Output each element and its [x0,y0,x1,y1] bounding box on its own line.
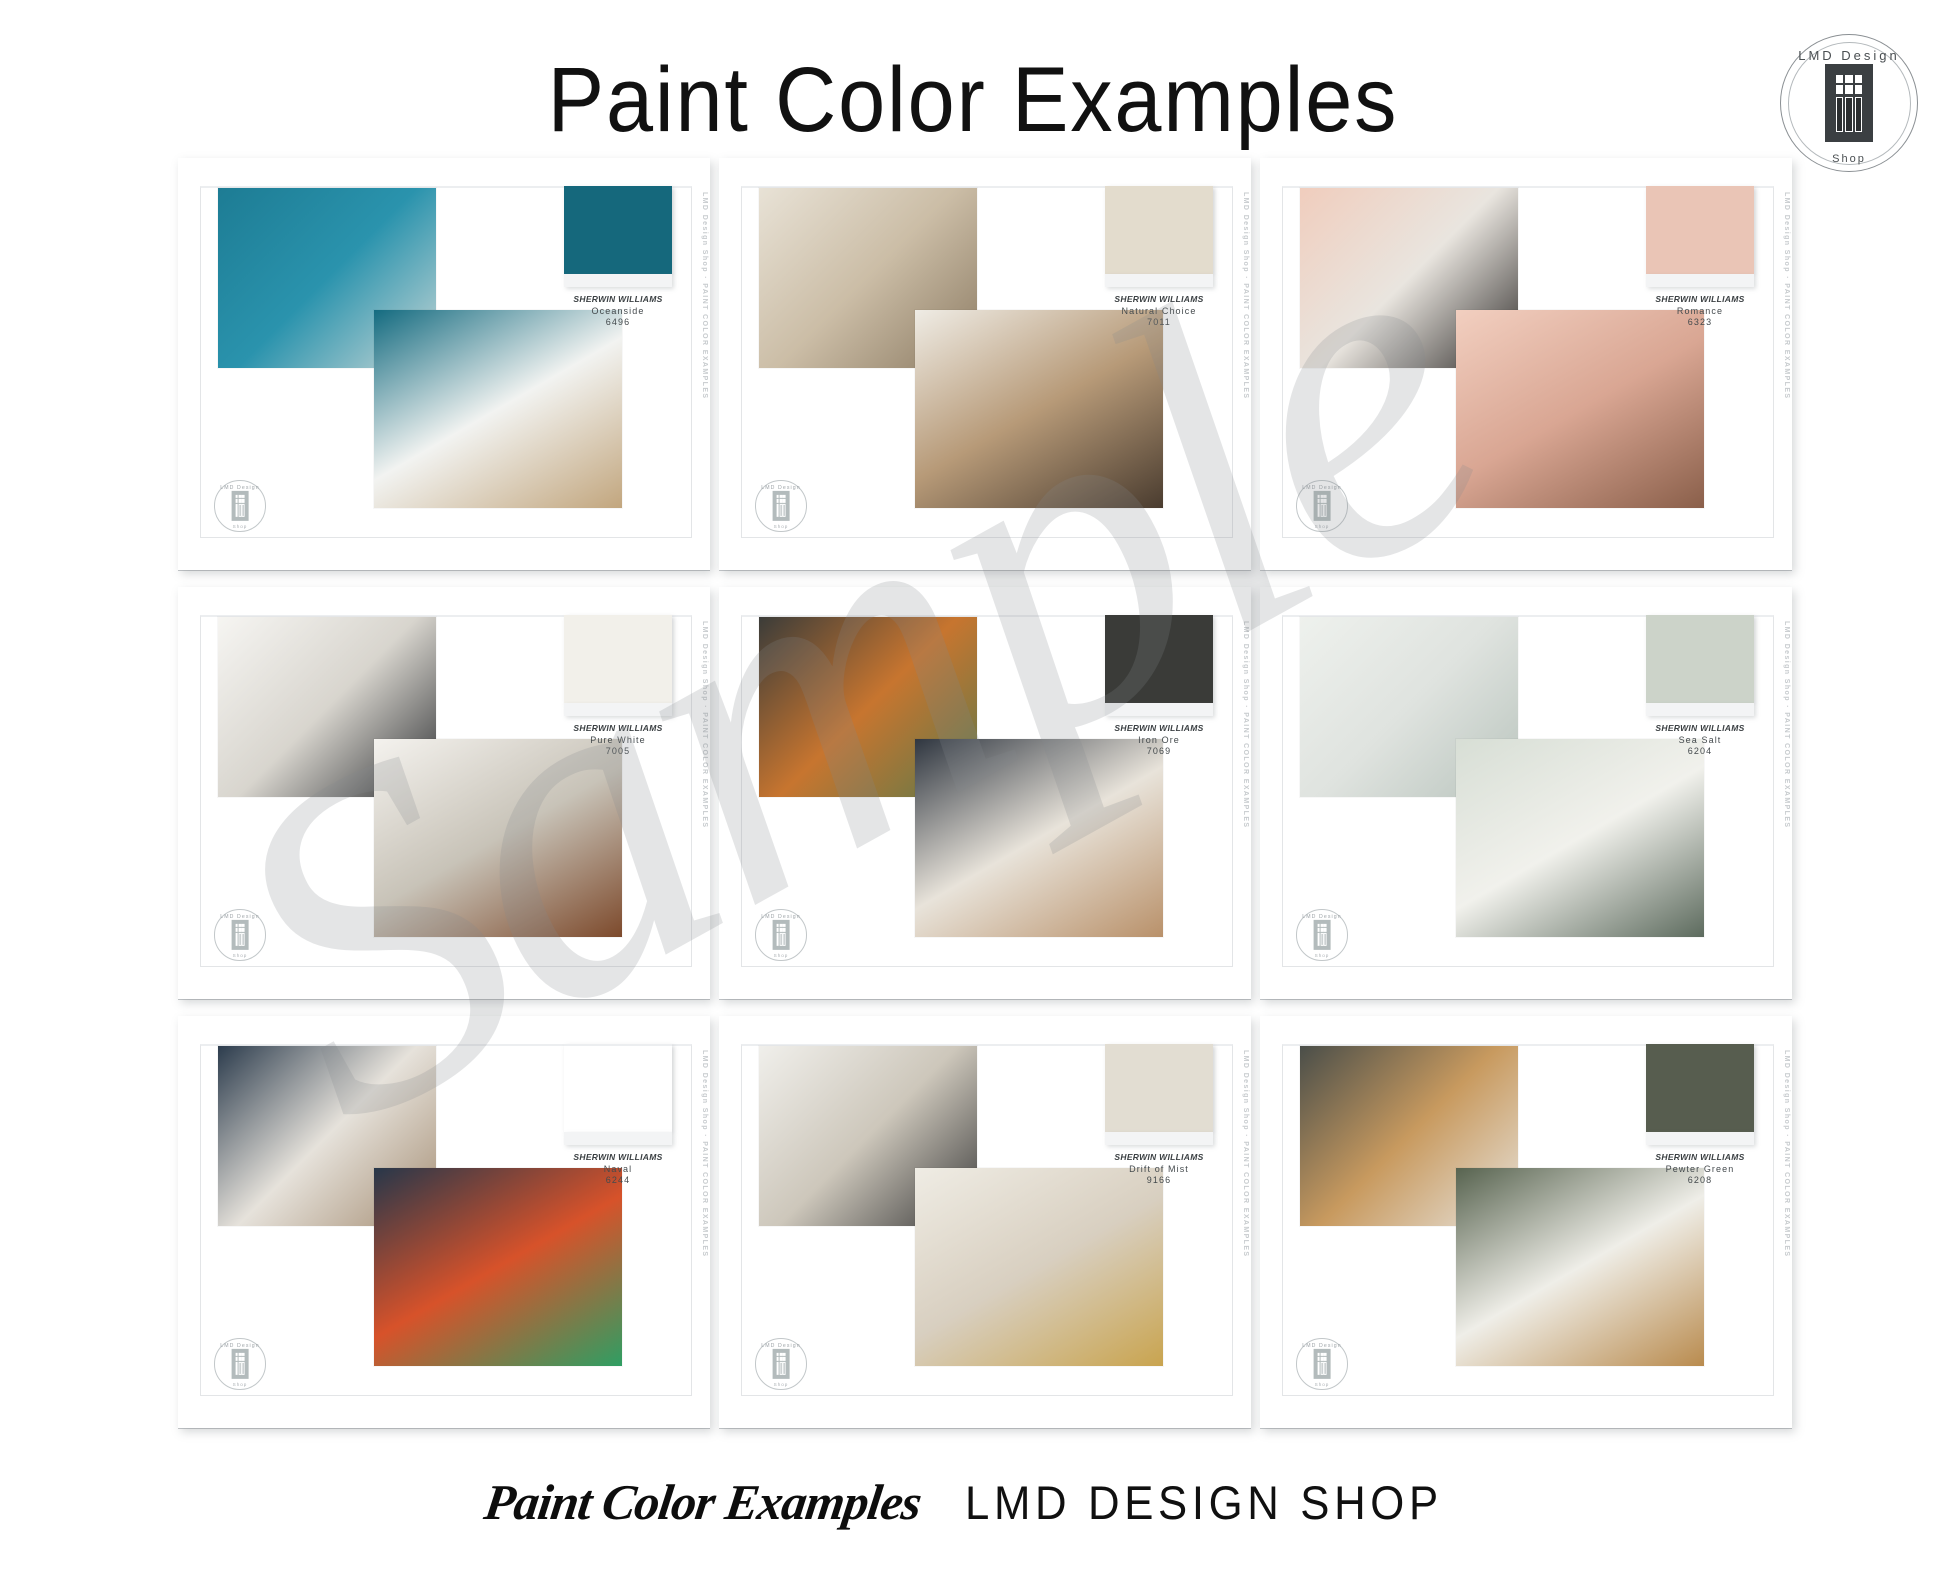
swatch-color-code: 7011 [1105,317,1213,327]
door-panes [777,924,786,932]
swatch-color-name: Drift of Mist [1105,1164,1213,1174]
paint-swatch[interactable]: Sherwin WilliamsSea Salt6204 [1646,615,1754,756]
swatch-brand-label: Sherwin Williams [1646,723,1754,733]
door-icon [232,1349,249,1379]
swatch-color-name: Oceanside [564,306,672,316]
card-logo-arc-bottom: Shop [212,524,268,529]
card-lmd-logo: LMD DesignShop [1294,478,1350,534]
door-lower-panels [236,933,245,946]
card-logo-arc-top: LMD Design [1294,914,1350,920]
door-icon [1314,920,1331,950]
door-icon [773,491,790,521]
swatch-brand-label: Sherwin Williams [1105,294,1213,304]
logo-arc-top-text: LMD Design [1774,48,1924,63]
navy-kitchenette-with-open-shelving-photo [915,739,1163,937]
card-logo-arc-top: LMD Design [1294,485,1350,491]
paint-swatch[interactable]: Sherwin WilliamsNatural Choice7011 [1105,186,1213,327]
card-lmd-logo: LMD DesignShop [212,1336,268,1392]
door-lower-panels [1318,933,1327,946]
teal-bedroom-with-macrame-headboard-photo [374,310,622,508]
card-lmd-logo: LMD DesignShop [753,478,809,534]
card-logo-arc-top: LMD Design [753,485,809,491]
paint-color-card[interactable]: Sherwin WilliamsIron Ore7069LMD DesignSh… [719,587,1251,999]
door-lower-panels [236,1362,245,1375]
card-lmd-logo: LMD DesignShop [212,907,268,963]
door-lower-panels [1318,1362,1327,1375]
card-logo-arc-bottom: Shop [1294,953,1350,958]
swatch-color-code: 6208 [1646,1175,1754,1185]
white-entryway-with-front-door-photo [915,310,1163,508]
swatch-color-chip [564,615,672,703]
swatch-color-chip [1646,186,1754,274]
paint-swatch[interactable]: Sherwin WilliamsDrift of Mist9166 [1105,1044,1213,1185]
swatch-chip-foot [564,703,672,716]
card-logo-arc-top: LMD Design [212,914,268,920]
card-lmd-logo: LMD DesignShop [212,478,268,534]
door-icon [1314,491,1331,521]
door-lower-panels [1836,97,1863,131]
card-logo-arc-bottom: Shop [753,524,809,529]
card-logo-arc-bottom: Shop [1294,1382,1350,1387]
card-side-watermark-text: LMD Design Shop · PAINT COLOR EXAMPLES [1774,192,1790,492]
door-panes [236,1353,245,1361]
swatch-color-chip [564,1044,672,1132]
door-icon [773,1349,790,1379]
swatch-color-code: 6204 [1646,746,1754,756]
swatch-color-chip [564,186,672,274]
card-lmd-logo: LMD DesignShop [753,907,809,963]
swatch-color-chip [1105,1044,1213,1132]
navy-living-room-with-orange-chairs-photo [374,1168,622,1366]
footer-script-title: Paint Color Examples [481,1473,925,1531]
swatch-chip-foot [564,1132,672,1145]
sage-living-room-with-fireplace-and-builtins-photo [1456,739,1704,937]
card-side-watermark-text: LMD Design Shop · PAINT COLOR EXAMPLES [1233,192,1249,492]
card-side-watermark-text: LMD Design Shop · PAINT COLOR EXAMPLES [1774,621,1790,921]
white-bedroom-with-gallery-wall-photo [374,739,622,937]
door-icon [1825,64,1873,142]
swatch-color-code: 6244 [564,1175,672,1185]
card-logo-arc-bottom: Shop [753,953,809,958]
card-side-watermark-text: LMD Design Shop · PAINT COLOR EXAMPLES [1233,621,1249,921]
swatch-color-name: Pure White [564,735,672,745]
door-panes [1318,495,1327,503]
swatch-chip-foot [1105,703,1213,716]
swatch-color-chip [1105,615,1213,703]
card-logo-arc-bottom: Shop [753,1382,809,1387]
card-lmd-logo: LMD DesignShop [1294,1336,1350,1392]
door-icon [232,491,249,521]
footer: Paint Color Examples LMD DESIGN SHOP [0,1473,1946,1531]
card-logo-arc-top: LMD Design [212,1343,268,1349]
swatch-chip-foot [1646,703,1754,716]
swatch-color-code: 6323 [1646,317,1754,327]
card-lmd-logo: LMD DesignShop [753,1336,809,1392]
swatch-chip-foot [1646,274,1754,287]
door-panes [777,1353,786,1361]
swatch-color-name: Iron Ore [1105,735,1213,745]
swatch-color-code: 6496 [564,317,672,327]
swatch-brand-label: Sherwin Williams [564,294,672,304]
card-logo-arc-top: LMD Design [753,1343,809,1349]
lmd-design-shop-logo: LMD Design Shop [1774,28,1924,178]
logo-arc-bottom-text: Shop [1774,153,1924,165]
swatch-chip-foot [564,274,672,287]
pink-kitchen-with-cabinets-photo [1456,310,1704,508]
card-lmd-logo: LMD DesignShop [1294,907,1350,963]
swatch-chip-foot [1105,274,1213,287]
swatch-brand-label: Sherwin Williams [1646,1152,1754,1162]
door-panes [1318,1353,1327,1361]
door-icon [232,920,249,950]
door-lower-panels [777,933,786,946]
card-side-watermark-text: LMD Design Shop · PAINT COLOR EXAMPLES [1233,1050,1249,1350]
swatch-brand-label: Sherwin Williams [1105,1152,1213,1162]
door-lower-panels [236,504,245,517]
paint-swatch[interactable]: Sherwin WilliamsPewter Green6208 [1646,1044,1754,1185]
swatch-brand-label: Sherwin Williams [564,1152,672,1162]
door-panes [236,495,245,503]
swatch-chip-foot [1105,1132,1213,1145]
swatch-color-chip [1105,186,1213,274]
swatch-color-name: Naval [564,1164,672,1174]
swatch-brand-label: Sherwin Williams [564,723,672,733]
card-side-watermark-text: LMD Design Shop · PAINT COLOR EXAMPLES [1774,1050,1790,1350]
door-lower-panels [777,1362,786,1375]
door-lower-panels [1318,504,1327,517]
footer-brand-name: LMD DESIGN SHOP [965,1475,1443,1530]
paint-color-card[interactable]: Sherwin WilliamsOceanside6496LMD DesignS… [178,158,710,570]
neutral-sitting-room-with-gold-chandelier-photo [915,1168,1163,1366]
card-logo-arc-bottom: Shop [1294,524,1350,529]
paint-swatch[interactable]: Sherwin WilliamsRomance6323 [1646,186,1754,327]
door-panes [1318,924,1327,932]
door-icon [773,920,790,950]
swatch-color-name: Romance [1646,306,1754,316]
card-logo-arc-top: LMD Design [753,914,809,920]
door-lower-panels [777,504,786,517]
card-side-watermark-text: LMD Design Shop · PAINT COLOR EXAMPLES [692,621,708,921]
door-icon [1314,1349,1331,1379]
swatch-color-name: Pewter Green [1646,1164,1754,1174]
card-logo-arc-top: LMD Design [212,485,268,491]
swatch-color-name: Natural Choice [1105,306,1213,316]
door-panes [1836,75,1863,94]
card-side-watermark-text: LMD Design Shop · PAINT COLOR EXAMPLES [692,1050,708,1350]
paint-color-card[interactable]: Sherwin WilliamsRomance6323LMD DesignSho… [1260,158,1792,570]
swatch-color-code: 9166 [1105,1175,1213,1185]
card-logo-arc-top: LMD Design [1294,1343,1350,1349]
green-kitchen-with-island-and-stools-photo [1456,1168,1704,1366]
swatch-brand-label: Sherwin Williams [1105,723,1213,733]
swatch-color-chip [1646,1044,1754,1132]
swatch-color-name: Sea Salt [1646,735,1754,745]
paint-swatch[interactable]: Sherwin WilliamsOceanside6496 [564,186,672,327]
paint-color-card[interactable]: Sherwin WilliamsDrift of Mist9166LMD Des… [719,1016,1251,1428]
card-logo-arc-bottom: Shop [212,953,268,958]
paint-swatch[interactable]: Sherwin WilliamsNaval6244 [564,1044,672,1185]
door-panes [236,924,245,932]
paint-color-card[interactable]: Sherwin WilliamsNaval6244LMD DesignShopL… [178,1016,710,1428]
swatch-color-chip [1646,615,1754,703]
paint-color-card[interactable]: Sherwin WilliamsNatural Choice7011LMD De… [719,158,1251,570]
paint-color-card[interactable]: Sherwin WilliamsPure White7005LMD Design… [178,587,710,999]
paint-color-card[interactable]: Sherwin WilliamsSea Salt6204LMD DesignSh… [1260,587,1792,999]
paint-color-card-grid: Sherwin WilliamsOceanside6496LMD DesignS… [178,158,1792,1428]
paint-swatch[interactable]: Sherwin WilliamsPure White7005 [564,615,672,756]
card-side-watermark-text: LMD Design Shop · PAINT COLOR EXAMPLES [692,192,708,492]
swatch-brand-label: Sherwin Williams [1646,294,1754,304]
swatch-chip-foot [1646,1132,1754,1145]
paint-color-card[interactable]: Sherwin WilliamsPewter Green6208LMD Desi… [1260,1016,1792,1428]
paint-swatch[interactable]: Sherwin WilliamsIron Ore7069 [1105,615,1213,756]
door-panes [777,495,786,503]
page-title: Paint Color Examples [78,48,1868,153]
swatch-color-code: 7005 [564,746,672,756]
swatch-color-code: 7069 [1105,746,1213,756]
card-logo-arc-bottom: Shop [212,1382,268,1387]
